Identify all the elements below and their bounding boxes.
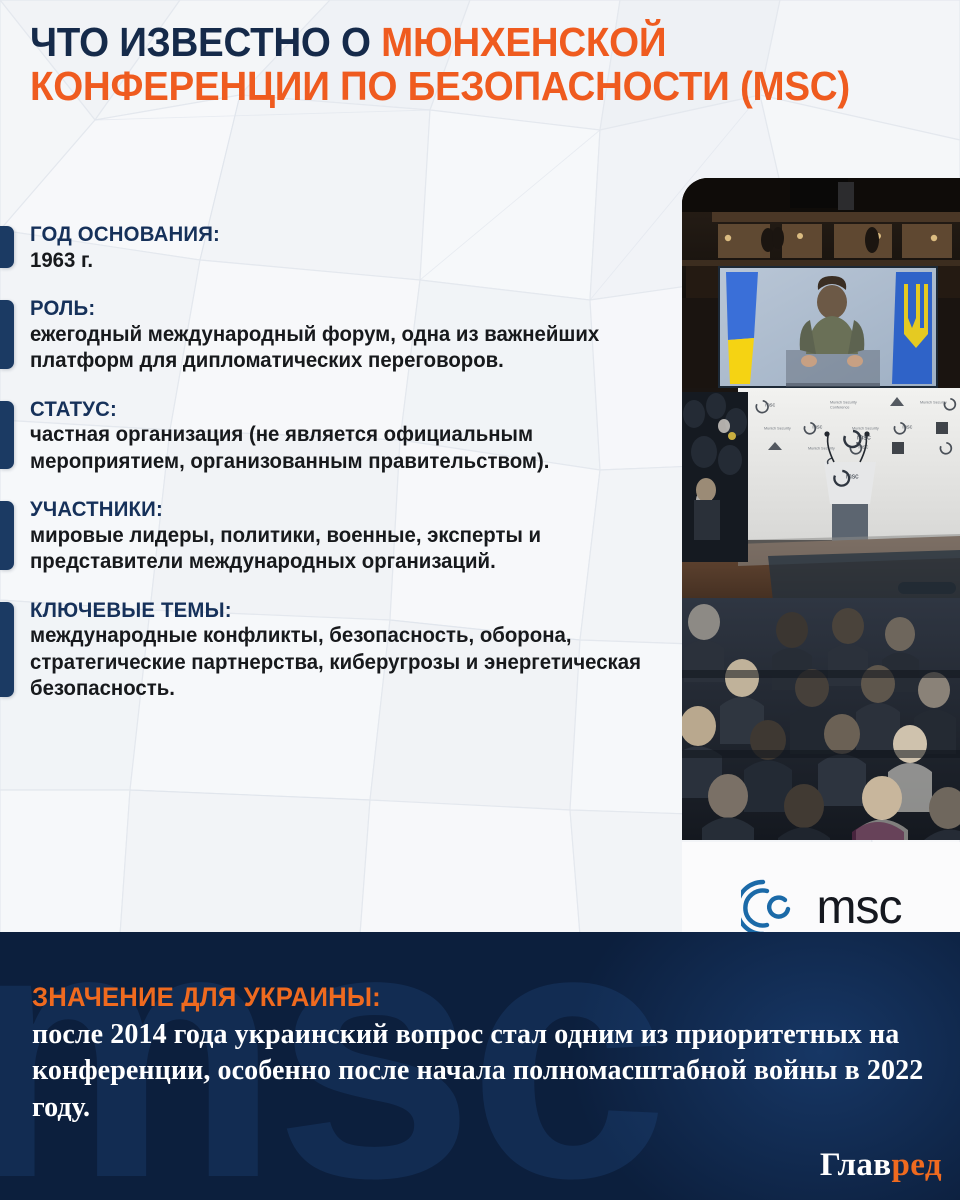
fact-label: РОЛЬ: [30, 296, 670, 322]
band-content: ЗНАЧЕНИЕ ДЛЯ УКРАИНЫ: после 2014 года ук… [32, 982, 932, 1126]
svg-text:Munich Security: Munich Security [830, 400, 857, 404]
fact-item-participants: УЧАСТНИКИ: мировые лидеры, политики, вое… [0, 497, 690, 576]
fact-value: международные конфликты, безопасность, о… [30, 623, 670, 702]
svg-text:Munich Security: Munich Security [808, 446, 835, 450]
conference-photo: msc Munich Security Conference Munich Se… [682, 178, 960, 840]
fact-label: УЧАСТНИКИ: [30, 497, 670, 523]
accent-bar [0, 501, 14, 570]
glavred-name-white: Глав [820, 1147, 892, 1183]
svg-text:msc: msc [765, 403, 775, 409]
svg-text:Munich Security: Munich Security [920, 400, 947, 404]
page-title: ЧТО ИЗВЕСТНО О МЮНХЕНСКОЙ КОНФЕРЕНЦИИ ПО… [30, 20, 876, 109]
fact-item-founded: ГОД ОСНОВАНИЯ: 1963 г. [0, 222, 690, 274]
fact-label: СТАТУС: [30, 397, 670, 423]
svg-text:msc: msc [812, 425, 822, 431]
msc-arcs-icon [741, 876, 805, 940]
svg-text:Munich Security: Munich Security [852, 426, 879, 430]
accent-bar [0, 300, 14, 369]
fact-label: КЛЮЧЕВЫЕ ТЕМЫ: [30, 598, 670, 624]
fact-item-key-topics: КЛЮЧЕВЫЕ ТЕМЫ: международные конфликты, … [0, 598, 690, 703]
fact-value: ежегодный международный форум, одна из в… [30, 322, 670, 375]
svg-text:msc: msc [857, 433, 871, 442]
fact-value: мировые лидеры, политики, военные, экспе… [30, 523, 670, 576]
page-title-prefix: ЧТО ИЗВЕСТНО О [30, 19, 381, 65]
significance-band: msc ЗНАЧЕНИЕ ДЛЯ УКРАИНЫ: после 2014 год… [0, 932, 960, 1200]
fact-label: ГОД ОСНОВАНИЯ: [30, 222, 670, 248]
infographic-root: ЧТО ИЗВЕСТНО О МЮНХЕНСКОЙ КОНФЕРЕНЦИИ ПО… [0, 0, 960, 1200]
svg-text:Munich Security: Munich Security [764, 426, 791, 430]
svg-text:msc: msc [846, 474, 859, 481]
band-label: ЗНАЧЕНИЕ ДЛЯ УКРАИНЫ: [32, 982, 887, 1013]
accent-bar [0, 226, 14, 268]
fact-item-status: СТАТУС: частная организация (не является… [0, 397, 690, 476]
band-text: после 2014 года украинский вопрос стал о… [32, 1017, 932, 1126]
glavred-logo[interactable]: Главред [820, 1149, 942, 1182]
msc-wordmark: msc [817, 884, 902, 932]
glavred-name-orange: ред [892, 1147, 942, 1183]
svg-text:msc: msc [902, 425, 912, 431]
fact-value: 1963 г. [30, 248, 670, 274]
fact-item-role: РОЛЬ: ежегодный международный форум, одн… [0, 296, 690, 375]
svg-text:msc: msc [858, 445, 868, 451]
svg-text:Conference: Conference [830, 405, 849, 409]
accent-bar [0, 401, 14, 470]
fact-list: ГОД ОСНОВАНИЯ: 1963 г. РОЛЬ: ежегодный м… [0, 222, 690, 725]
fact-value: частная организация (не является официал… [30, 422, 670, 475]
accent-bar [0, 602, 14, 697]
